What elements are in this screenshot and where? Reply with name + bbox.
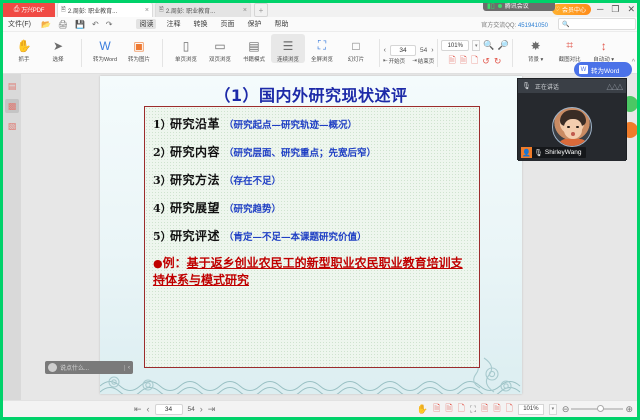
tool-book-mode-label: 书籍模式 [243,55,265,63]
chevron-up-icon[interactable]: ^ [632,59,635,66]
app-logo-label: 万兴PDF [21,5,44,14]
menu-bar: 文件(F) 📂 🖨 💾 ↶ ↷ 阅读 注释 转换 页面 保护 帮助 官方交流QQ… [0,17,640,32]
pdf-logo-icon: ⎙ [14,6,19,14]
status-pager: ⇤ ‹ 34 54 › ⇥ [134,404,215,415]
slide-example-line: ●例：基于返乡创业农民工的新型职业农民职业教育培训支持体系与模式研究 [153,255,473,288]
fullscreen-icon: ⛶ [313,37,331,54]
actual-size-icon[interactable]: 🗋 [471,53,478,69]
speaking-status-label: 正在讲话 [535,82,559,91]
first-page-icon: ⇤ [383,58,388,64]
slide-item-2-number: 2） [153,144,170,160]
avatar-eye-left [567,126,570,128]
close-icon[interactable]: × [145,7,149,14]
ribbon-toolbar: ✋ 抓手 ➤ 选择 W 转为Word ▣ 转为图片 ▯ 单页浏览 [0,32,640,74]
menu-convert[interactable]: 转换 [190,19,210,29]
tool-to-image[interactable]: ▣ 转为图片 [122,34,156,63]
slide-item-3-note: （存在不足） [224,173,281,187]
slide-item-1-main: 研究沿革 [170,115,220,132]
floating-to-word-button[interactable]: W 转为Word [574,62,632,77]
avatar-body [558,139,588,147]
divider [379,39,380,67]
tencent-meeting-label: 腾讯会议 [505,1,529,10]
zoom-row: 101% ▾ 🔍 🔎 [441,40,508,51]
menu-read[interactable]: 阅读 [136,19,156,29]
comment-input-placeholder: 说点什么... [60,363,121,372]
video-window-header: 🎙 正在讲话 △△△ [518,79,626,93]
pager-row: ‹ 34 54 › [384,45,434,56]
tool-fullscreen-label: 全屏浏览 [311,55,333,63]
to-image-icon: ▣ [130,37,148,54]
ribbon-group-convert: W 转为Word ▣ 转为图片 [85,32,159,73]
divider [437,39,438,67]
slide-item-3-main: 研究方法 [170,171,220,188]
actual-size-icon[interactable]: 🗋 [506,401,513,417]
autoscroll-icon: ↕ [595,37,613,54]
menu-file[interactable]: 文件(F) [5,19,34,29]
hand-icon: ✋ [15,37,33,54]
word-doc-icon: W [579,65,588,74]
tool-continuous-label: 连续浏览 [277,55,299,63]
waveform-icon: △△△ [607,82,622,91]
sidebar-item-attachments[interactable]: ▧ [5,119,19,133]
new-tab-button[interactable]: + [254,3,268,17]
menu-annotate[interactable]: 注释 [163,19,183,29]
chevron-left-icon[interactable]: ‹ [124,365,130,371]
bullet-icon: ● [153,257,163,270]
participant-name-label: ShirleyWang [545,149,582,156]
compare-icon: ⌗ [561,37,579,54]
tool-to-image-label: 转为图片 [128,55,150,63]
fit-width-icon[interactable]: 🗎 [493,401,500,417]
next-page-icon[interactable]: › [200,404,203,414]
slide-item-1: 1） 研究沿革 （研究起点—研究轨迹—概况） [153,115,473,132]
slide-item-4: 4） 研究展望 （研究趋势） [153,199,473,216]
rotate-left-icon[interactable]: ↺ [482,56,490,67]
book-mode-icon[interactable]: 🗋 [458,401,465,417]
participant-name-badge: 👤 🎙 ShirleyWang [521,147,586,158]
slide-item-2-note: （研究层面、研究重点；先宽后窄） [224,145,376,159]
avatar-eye-right [576,126,579,128]
menu-help[interactable]: 帮助 [271,19,291,29]
sidebar-item-thumbnails[interactable]: ▤ [5,79,19,93]
slide-content-box: 1） 研究沿革 （研究起点—研究轨迹—概况） 2） 研究内容 （研究层面、研究重… [144,106,480,368]
slide-item-1-number: 1） [153,116,170,132]
avatar-face [564,119,582,139]
background-icon: ✸ [527,37,545,54]
window-buttons: ─ ❐ ✕ [597,4,635,15]
avatar [552,107,592,147]
slide-page: （1）国内外研究现状述评 1） 研究沿革 （研究起点—研究轨迹—概况） 2） 研… [100,76,522,394]
slide-example-prefix: 例： [163,256,187,270]
sidebar-item-bookmarks[interactable]: ▩ [5,99,19,113]
document-tab-2[interactable]: 🖹 2.周彭: 职业教育... × [155,2,251,17]
ribbon-zoom: 101% ▾ 🔍 🔎 🗎 🗎 🗋 ↺ ↻ [441,36,508,69]
dual-page-icon: ▭ [211,37,229,54]
close-window-button[interactable]: ✕ [627,4,635,15]
slide-item-3: 3） 研究方法 （存在不足） [153,171,473,188]
tool-to-word-label: 转为Word [93,55,117,63]
status-zoom-input[interactable]: 101% [518,404,544,415]
zoom-out-icon[interactable]: 🔎 [497,40,508,51]
chevron-down-icon[interactable]: ▾ [472,40,480,51]
pdf-reader-window: ⎙ 万兴PDF 🖹 2.周彭: 职业教育... × 🖹 2.周彭: 职业教育..… [0,0,640,420]
tool-dual-page-label: 双页浏览 [209,55,231,63]
rotate-right-icon[interactable]: ↻ [494,56,502,67]
document-icon: 🖹 [159,5,164,15]
slideshow-icon: □ [347,37,365,54]
slide-item-3-number: 3） [153,172,170,188]
status-page-total: 54 [188,406,195,413]
document-tab-2-label: 2.周彭: 职业教育... [166,6,241,15]
last-page-label: 结束页 [418,57,435,65]
slide-item-1-note: （研究起点—研究轨迹—概况） [224,117,357,131]
crown-icon: ♡ [555,6,560,13]
first-page-button[interactable]: ⇤ 开始页 [383,57,405,65]
divider [81,39,82,67]
save-icon[interactable]: 💾 [75,20,85,29]
status-page-input[interactable]: 34 [155,404,183,415]
status-bar: ⇤ ‹ 34 54 › ⇥ ✋ 🗎 🗎 🗋 ⛶ 🗎 🗎 🗋 101% ▾ ⊖ ⊕ [3,400,637,417]
tool-hand[interactable]: ✋ 抓手 [7,34,41,63]
left-sidebar: ▤ ▩ ▧ [3,74,21,400]
zoom-slider[interactable]: ⊖ ⊕ [562,404,633,415]
tool-select-label: 选择 [52,55,63,63]
dual-page-icon[interactable]: 🗎 [445,401,452,417]
single-page-icon: ▯ [177,37,195,54]
slide-item-5-number: 5） [153,228,170,244]
user-avatar-icon [48,363,57,372]
divider [512,39,513,67]
video-feed[interactable]: 👤 🎙 ShirleyWang [518,93,626,161]
document-tab-1[interactable]: 🖹 2.周彭: 职业教育... × [57,2,153,17]
slide-item-4-note: （研究趋势） [224,201,281,215]
comment-input-bar[interactable]: 说点什么... ‹ [45,361,133,374]
tool-single-page[interactable]: ▯ 单页浏览 [169,34,203,63]
hand-icon[interactable]: ✋ [417,404,428,415]
next-page-icon[interactable]: › [431,47,433,54]
tool-single-page-label: 单页浏览 [175,55,197,63]
tool-to-word[interactable]: W 转为Word [88,34,122,63]
divider [162,39,163,67]
close-icon[interactable]: × [243,7,247,14]
tool-book-mode[interactable]: ▤ 书籍模式 [237,34,271,63]
slide-item-2-main: 研究内容 [170,143,220,160]
slide-title: （1）国内外研究现状述评 [100,82,522,106]
qq-prefix-label: 官方交流QQ: [481,23,516,29]
tool-continuous[interactable]: ☰ 连续浏览 [271,34,305,63]
qq-number: 451941050 [518,23,548,29]
page-number-input[interactable]: 34 [390,45,416,56]
tool-background[interactable]: ✸ 背景 ▾ [519,34,553,63]
status-right-group: ✋ 🗎 🗎 🗋 ⛶ 🗎 🗎 🗋 101% ▾ ⊖ ⊕ [417,401,637,417]
single-page-icon[interactable]: 🗎 [433,401,440,417]
prev-page-icon[interactable]: ‹ [147,404,150,414]
page-total-label: 54 [420,47,427,54]
document-icon: 🖹 [61,5,66,15]
first-page-icon[interactable]: ⇤ [134,404,142,415]
slide-item-5-main: 研究评述 [170,227,220,244]
redo-icon[interactable]: ↷ [106,20,113,29]
open-icon[interactable]: 📂 [41,20,51,29]
zoom-sub-row: 🗎 🗎 🗋 ↺ ↻ [449,53,502,69]
last-page-icon[interactable]: ⇥ [208,404,216,415]
fullscreen-icon[interactable]: ⛶ [470,404,476,415]
tool-compare[interactable]: ⌗ 截图对比 [553,34,587,63]
participant-icon: 👤 [521,147,532,158]
tencent-meeting-bar[interactable]: ▮▯ 腾讯会议 [483,0,555,11]
document-tab-1-label: 2.周彭: 职业教育... [68,6,143,15]
window-controls-group: ♡ 会员中心 ─ ❐ ✕ [552,4,640,17]
slide-item-5-note: （肯定—不足—本课题研究价值） [224,229,367,243]
slide-item-5: 5） 研究评述 （肯定—不足—本课题研究价值） [153,227,473,244]
cursor-icon: ➤ [49,37,67,54]
zoom-slider-knob[interactable] [597,405,604,412]
undo-icon[interactable]: ↶ [92,20,99,29]
pager-sub-row: ⇤ 开始页 ⇥ 结束页 [383,57,434,65]
tool-hand-label: 抓手 [18,55,29,63]
search-input[interactable]: 🔍 [558,18,636,30]
zoom-slider-track[interactable] [571,408,623,410]
tool-autoscroll[interactable]: ↕ 自动动 ▾ [587,34,621,63]
last-page-icon: ⇥ [412,58,417,64]
prev-page-icon[interactable]: ‹ [384,47,386,54]
chevron-down-icon[interactable]: ▾ [549,404,557,415]
signal-icon: ▮▯ [487,2,495,10]
book-mode-icon: ▤ [245,37,263,54]
ribbon-pager: ‹ 34 54 › ⇤ 开始页 ⇥ 结束页 [383,41,434,65]
tool-select[interactable]: ➤ 选择 [41,34,75,63]
ribbon-group-view: ▯ 单页浏览 ▭ 双页浏览 ▤ 书籍模式 ☰ 连续浏览 ⛶ 全屏浏览 □ 幻灯片 [166,32,376,73]
fit-width-icon[interactable]: 🗎 [460,53,467,69]
tool-slideshow[interactable]: □ 幻灯片 [339,34,373,63]
slide-example-text: 基于返乡创业农民工的新型职业农民职业教育培训支持体系与模式研究 [153,256,463,287]
print-icon[interactable]: 🖨 [58,20,68,29]
tool-fullscreen[interactable]: ⛶ 全屏浏览 [305,34,339,63]
app-logo[interactable]: ⎙ 万兴PDF [3,2,55,17]
minimize-button[interactable]: ─ [597,4,603,15]
slide-item-2: 2） 研究内容 （研究层面、研究重点；先宽后窄） [153,143,473,160]
slide-item-4-main: 研究展望 [170,199,220,216]
to-word-icon: W [96,37,114,54]
fit-page-icon[interactable]: 🗎 [481,401,488,417]
floating-to-word-label: 转为Word [591,65,619,75]
official-qq-note: 官方交流QQ: 451941050 [481,20,551,29]
tool-background-label: 背景 ▾ [528,55,543,63]
video-conference-window[interactable]: 🎙 正在讲话 △△△ 👤 🎙 ShirleyWang [517,78,627,160]
tool-slideshow-label: 幻灯片 [348,55,365,63]
slide-item-4-number: 4） [153,200,170,216]
maximize-button[interactable]: ❐ [611,4,619,15]
zoom-level-input[interactable]: 101% [441,40,469,51]
microphone-icon: 🎙 [534,149,543,157]
zoom-out-icon[interactable]: ⊖ [562,404,570,415]
tool-dual-page[interactable]: ▭ 双页浏览 [203,34,237,63]
fit-page-icon[interactable]: 🗎 [449,53,456,69]
avatar-mouth [571,132,575,136]
ribbon-group-tools: ✋ 抓手 ➤ 选择 [4,32,78,73]
vip-center-button[interactable]: ♡ 会员中心 [552,4,591,15]
vip-center-label: 会员中心 [562,5,586,14]
first-page-label: 开始页 [389,57,406,65]
last-page-button[interactable]: ⇥ 结束页 [412,57,434,65]
continuous-icon: ☰ [279,37,297,54]
zoom-in-icon[interactable]: ⊕ [625,404,633,415]
microphone-icon[interactable]: 🎙 [522,82,531,90]
search-icon: 🔍 [562,21,569,28]
zoom-in-icon[interactable]: 🔍 [483,40,494,51]
menu-protect[interactable]: 保护 [244,19,264,29]
menu-page[interactable]: 页面 [217,19,237,29]
recording-dot-icon [498,4,502,8]
